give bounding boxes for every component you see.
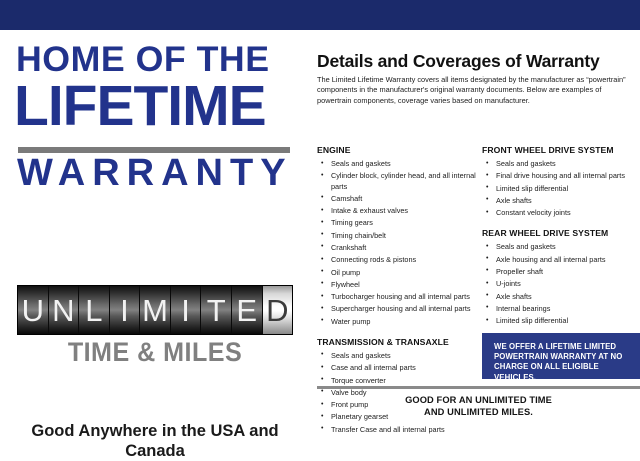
- coverage-list-transmission: Seals and gasketsCase and all internal p…: [317, 351, 482, 435]
- coverage-list-item: Torque converter: [317, 376, 482, 386]
- coverage-list-item: Seals and gaskets: [317, 351, 482, 361]
- coverage-list-item: Seals and gaskets: [482, 159, 640, 169]
- odometer-cell: M: [140, 286, 171, 334]
- coverage-list-item: Oil pump: [317, 268, 482, 278]
- odometer-cell: D: [263, 286, 293, 334]
- section-heading-engine: ENGINE: [317, 145, 482, 156]
- coverage-list-item: Timing chain/belt: [317, 231, 482, 241]
- coverage-list-item: Water pump: [317, 317, 482, 327]
- coverage-list-item: Transfer Case and all internal parts: [317, 425, 482, 435]
- coverage-list-front-wheel-drive: Seals and gasketsFinal drive housing and…: [482, 159, 640, 218]
- coverage-list-item: Seals and gaskets: [482, 242, 640, 252]
- odometer-cell: N: [49, 286, 80, 334]
- odometer-cell-char: D: [266, 295, 288, 326]
- coverage-list-item: Limited slip differential: [482, 316, 640, 326]
- hero-line-lifetime: LIFETIME: [14, 78, 266, 135]
- coverage-list-item: Axle shafts: [482, 196, 640, 206]
- odometer-cell: E: [232, 286, 263, 334]
- odometer-cell-char: U: [22, 295, 44, 326]
- odometer-graphic: UNLIMITED: [17, 285, 293, 335]
- odometer-cell: I: [171, 286, 202, 334]
- top-banner-bar: [0, 0, 640, 30]
- coverage-list-engine: Seals and gasketsCylinder block, cylinde…: [317, 159, 482, 327]
- odometer-cell: T: [201, 286, 232, 334]
- odometer-cell: U: [18, 286, 49, 334]
- coverage-list-rear-wheel-drive: Seals and gasketsAxle housing and all in…: [482, 242, 640, 326]
- hero-line-home-of-the: HOME OF THE: [16, 42, 304, 77]
- section-engine: ENGINE Seals and gasketsCylinder block, …: [317, 145, 482, 327]
- odometer-cell-char: L: [85, 295, 102, 326]
- details-description: The Limited Lifetime Warranty covers all…: [317, 75, 634, 106]
- right-footer-line-1: GOOD FOR AN UNLIMITED TIME: [317, 394, 640, 406]
- odometer-cell: L: [79, 286, 110, 334]
- warranty-infographic: HOME OF THE LIFETIME WARRANTY UNLIMITED …: [0, 0, 640, 426]
- odometer-cell-char: N: [52, 295, 74, 326]
- section-heading-rear-wheel-drive: REAR WHEEL DRIVE SYSTEM: [482, 228, 640, 239]
- odometer-cell-char: I: [120, 295, 129, 326]
- hero-line-warranty: WARRANTY: [17, 154, 293, 192]
- coverage-list-item: Camshaft: [317, 194, 482, 204]
- coverage-list-item: Timing gears: [317, 218, 482, 228]
- odometer-cell-char: M: [142, 295, 168, 326]
- coverage-list-item: Axle housing and all internal parts: [482, 255, 640, 265]
- coverage-list-item: Case and all internal parts: [317, 363, 482, 373]
- coverage-column-right: FRONT WHEEL DRIVE SYSTEM Seals and gaske…: [482, 145, 640, 328]
- odometer-cell-char: T: [207, 295, 226, 326]
- coverage-list-item: Limited slip differential: [482, 184, 640, 194]
- odometer-cell-char: I: [181, 295, 190, 326]
- footer-divider-rule: [317, 386, 640, 389]
- odometer-cell-char: E: [236, 295, 257, 326]
- section-rear-wheel-drive: REAR WHEEL DRIVE SYSTEM Seals and gasket…: [482, 228, 640, 326]
- callout-text: WE OFFER A LIFETIME LIMITED POWERTRAIN W…: [494, 342, 634, 383]
- coverage-list-item: Intake & exhaust valves: [317, 206, 482, 216]
- section-heading-transmission: TRANSMISSION & TRANSAXLE: [317, 337, 482, 348]
- coverage-list-item: Seals and gaskets: [317, 159, 482, 169]
- section-front-wheel-drive: FRONT WHEEL DRIVE SYSTEM Seals and gaske…: [482, 145, 640, 218]
- coverage-list-item: Crankshaft: [317, 243, 482, 253]
- right-details-panel: Details and Coverages of Warranty The Li…: [313, 30, 640, 426]
- coverage-list-item: Supercharger housing and all internal pa…: [317, 304, 482, 314]
- coverage-list-item: Internal bearings: [482, 304, 640, 314]
- coverage-list-item: Flywheel: [317, 280, 482, 290]
- left-footer-tagline: Good Anywhere in the USA and Canada: [0, 421, 310, 461]
- section-heading-front-wheel-drive: FRONT WHEEL DRIVE SYSTEM: [482, 145, 640, 156]
- coverage-list-item: Propeller shaft: [482, 267, 640, 277]
- coverage-list-item: Cylinder block, cylinder head, and all i…: [317, 171, 482, 191]
- odometer-caption: TIME & MILES: [11, 337, 299, 367]
- right-footer-line-2: AND UNLIMITED MILES.: [317, 406, 640, 418]
- coverage-list-item: Turbocharger housing and all internal pa…: [317, 292, 482, 302]
- callout-box: WE OFFER A LIFETIME LIMITED POWERTRAIN W…: [482, 333, 640, 379]
- odometer-cell: I: [110, 286, 141, 334]
- coverage-list-item: Connecting rods & pistons: [317, 255, 482, 265]
- coverage-list-item: Axle shafts: [482, 292, 640, 302]
- coverage-list-item: U-joints: [482, 279, 640, 289]
- left-brand-panel: HOME OF THE LIFETIME WARRANTY UNLIMITED …: [0, 30, 310, 426]
- coverage-list-item: Constant velocity joints: [482, 208, 640, 218]
- coverage-list-item: Final drive housing and all internal par…: [482, 171, 640, 181]
- page-title: Details and Coverages of Warranty: [317, 51, 600, 71]
- right-footer-text: GOOD FOR AN UNLIMITED TIME AND UNLIMITED…: [317, 394, 640, 418]
